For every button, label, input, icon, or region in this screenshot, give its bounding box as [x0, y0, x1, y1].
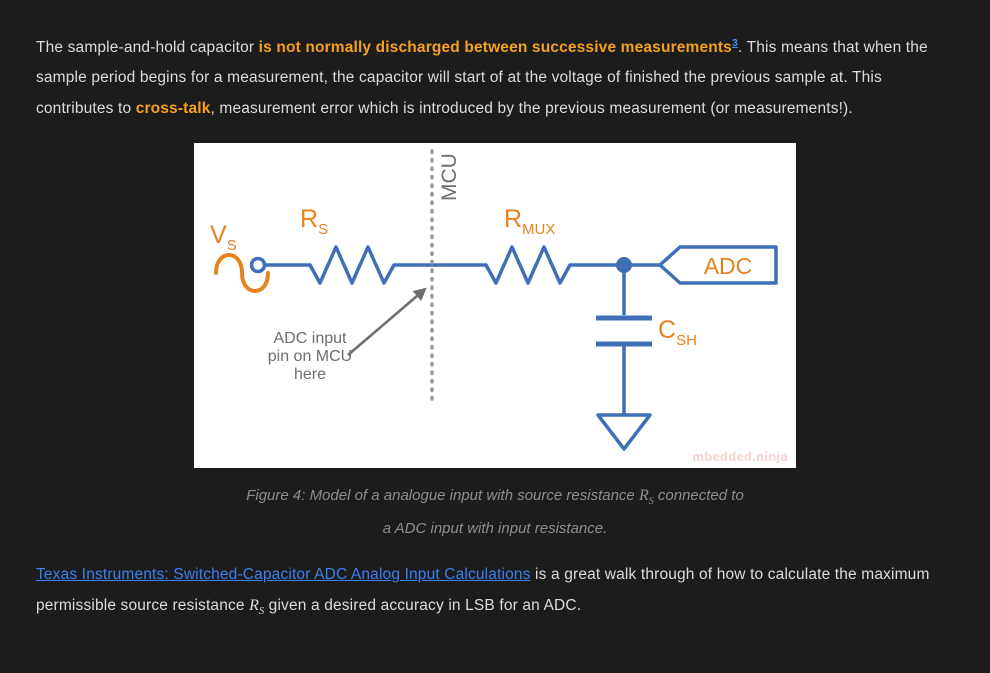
input-terminal-node-icon [252, 259, 265, 272]
source-resistor-symbol [310, 247, 426, 283]
intro-emphasis-discharged: is not normally discharged between succe… [259, 39, 732, 56]
intro-text-segment-1: The sample-and-hold capacitor [36, 39, 259, 56]
source-resistor-label-main: R [300, 205, 318, 233]
adc-pin-annotation-arrow-icon [348, 290, 424, 355]
article-page: The sample-and-hold capacitor is not nor… [0, 16, 990, 673]
capacitor-label-main: C [658, 316, 676, 344]
voltage-source-label: VS [210, 221, 237, 254]
mcu-boundary-label: MCU [438, 153, 461, 201]
adc-pin-annotation-line-2: pin on MCU [268, 348, 352, 365]
closing-paragraph: Texas Instruments: Switched-Capacitor AD… [36, 560, 954, 627]
circuit-diagram-panel: VS RS RMUX CSH ADC MCU ADC input pin on … [194, 143, 796, 468]
intro-paragraph: The sample-and-hold capacitor is not nor… [36, 16, 954, 125]
capacitor-label: CSH [658, 316, 697, 349]
closing-math-symbol: R [249, 597, 259, 614]
source-resistor-label-subscript: S [318, 221, 328, 238]
figure-caption-math-rs: RS [639, 487, 654, 504]
circuit-schematic-svg: VS RS RMUX CSH ADC MCU ADC input pin on … [194, 143, 796, 468]
figure-caption: Figure 4: Model of a analogue input with… [185, 482, 805, 542]
adc-pin-annotation-line-1: ADC input [274, 330, 347, 347]
voltage-source-label-main: V [210, 221, 227, 249]
mux-resistor-symbol [486, 247, 622, 283]
intro-emphasis-crosstalk: cross-talk [136, 100, 211, 117]
closing-math-rs: RS [249, 597, 264, 614]
figure-caption-suffix: connected to [654, 487, 744, 504]
figure-caption-line-2: a ADC input with input resistance. [383, 520, 608, 537]
texas-instruments-reference-link[interactable]: Texas Instruments: Switched-Capacitor AD… [36, 566, 531, 583]
adc-block-label: ADC [704, 253, 753, 279]
figure-caption-math-symbol: R [639, 487, 649, 504]
closing-text-segment-2: given a desired accuracy in LSB for an A… [264, 597, 581, 614]
mux-resistor-label-main: R [504, 205, 522, 233]
capacitor-label-subscript: SH [676, 332, 697, 349]
figure-container: VS RS RMUX CSH ADC MCU ADC input pin on … [36, 143, 954, 542]
ground-symbol-icon [598, 415, 650, 449]
adc-pin-annotation-line-3: here [294, 366, 326, 383]
voltage-source-label-subscript: S [227, 237, 237, 254]
figure-caption-prefix: Figure 4: Model of a analogue input with… [246, 487, 639, 504]
intro-text-segment-3: , measurement error which is introduced … [210, 100, 852, 117]
mux-resistor-label: RMUX [504, 205, 555, 238]
mux-resistor-label-subscript: MUX [522, 221, 555, 238]
source-resistor-label: RS [300, 205, 328, 238]
